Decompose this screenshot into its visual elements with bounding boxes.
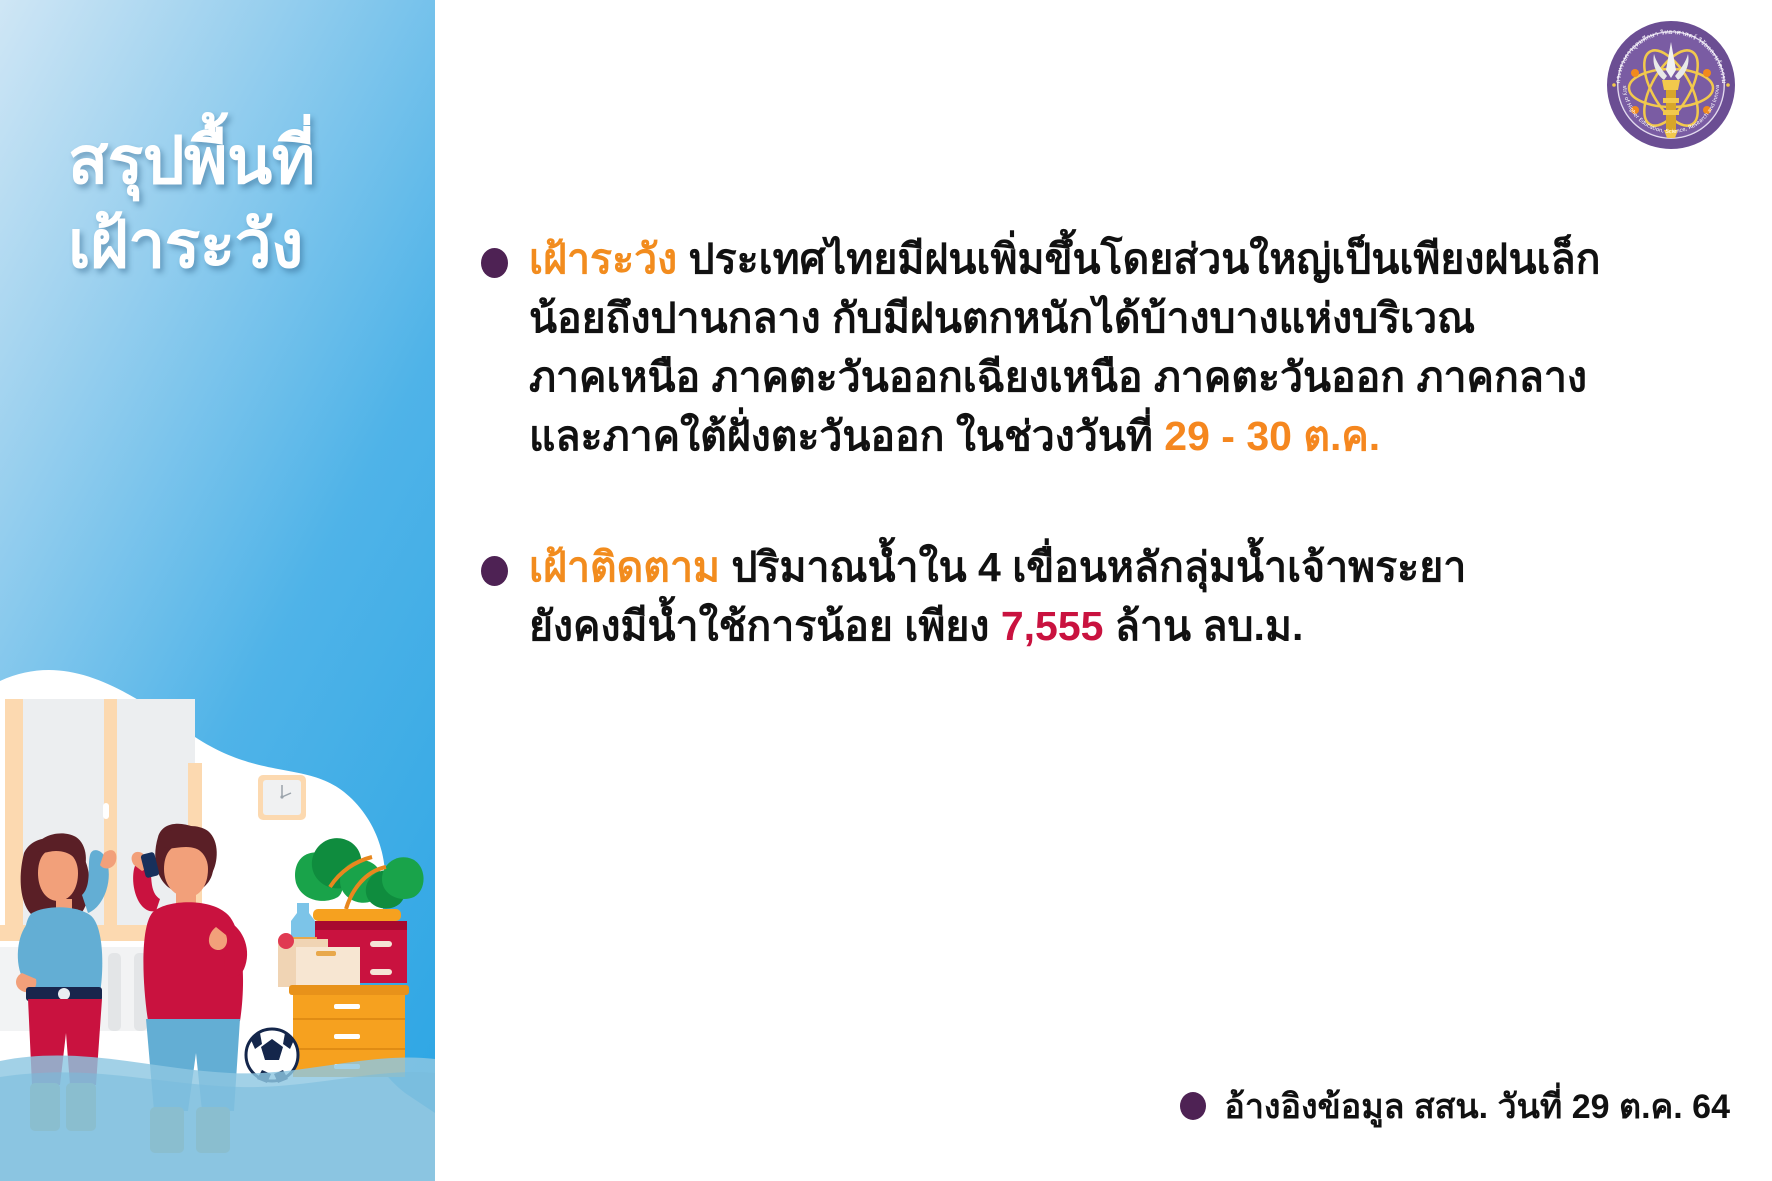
content-area: กระทรวงการอุดมศึกษา วิทยาศาสตร์ วิจัยและ… xyxy=(435,0,1772,1181)
left-panel: สรุปพื้นที่ เฝ้าระวัง xyxy=(0,0,435,1181)
bullet-2-line-1: เฝ้าติดตาม ปริมาณน้ำใน 4 เขื่อนหลักลุ่มน… xyxy=(529,538,1742,597)
bullet-item-watch-out: เฝ้าระวัง ประเทศไทยมีฝนเพิ่มขึ้นโดยส่วนใ… xyxy=(457,230,1742,466)
footer-bullet-dot-icon xyxy=(1180,1092,1206,1120)
bullet-2-keyword: เฝ้าติดตาม xyxy=(529,544,731,590)
bullet-1-line-2: น้อยถึงปานกลาง กับมีฝนตกหนักได้บ้างบางแห… xyxy=(529,289,1742,348)
bullet-dot-icon xyxy=(481,248,508,278)
page-title-line-2: เฝ้าระวัง xyxy=(68,202,418,286)
bullet-1-line-4: และภาคใต้ฝั่งตะวันออก ในช่วงวันที่ 29 - … xyxy=(529,407,1742,466)
date-range-highlight: 29 - 30 ต.ค. xyxy=(1164,413,1380,459)
flood-illustration xyxy=(0,621,435,1181)
bullet-1-line-1: เฝ้าระวัง ประเทศไทยมีฝนเพิ่มขึ้นโดยส่วนใ… xyxy=(529,230,1742,289)
bullet-1-line-3: ภาคเหนือ ภาคตะวันออกเฉียงเหนือ ภาคตะวันอ… xyxy=(529,348,1742,407)
bullet-2-line-1-rest: ปริมาณน้ำใน 4 เขื่อนหลักลุ่มน้ำเจ้าพระยา xyxy=(731,544,1466,590)
page-title: สรุปพื้นที่ เฝ้าระวัง xyxy=(68,118,418,287)
bullet-2-text: เฝ้าติดตาม ปริมาณน้ำใน 4 เขื่อนหลักลุ่มน… xyxy=(529,538,1742,656)
page-title-line-1: สรุปพื้นที่ xyxy=(68,118,418,202)
bullet-1-keyword: เฝ้าระวัง xyxy=(529,236,689,282)
bullet-1-line-1-rest: ประเทศไทยมีฝนเพิ่มขึ้นโดยส่วนใหญ่เป็นเพี… xyxy=(689,236,1601,282)
bullet-list: เฝ้าระวัง ประเทศไทยมีฝนเพิ่มขึ้นโดยส่วนใ… xyxy=(457,230,1742,714)
ministry-logo-icon: กระทรวงการอุดมศึกษา วิทยาศาสตร์ วิจัยและ… xyxy=(1604,18,1738,152)
bullet-1-line-4-a: และภาคใต้ฝั่งตะวันออก ในช่วงวันที่ xyxy=(529,413,1164,459)
source-footer: อ้างอิงข้อมูล สสน. วันที่ 29 ต.ค. 64 xyxy=(1180,1079,1730,1133)
bullet-2-line-2-c: ล้าน ลบ.ม. xyxy=(1103,603,1303,649)
water-volume-highlight: 7,555 xyxy=(1001,603,1104,649)
bullet-2-line-2-a: ยังคงมีน้ำใช้การน้อย เพียง xyxy=(529,603,1001,649)
bullet-item-monitor: เฝ้าติดตาม ปริมาณน้ำใน 4 เขื่อนหลักลุ่มน… xyxy=(457,538,1742,656)
source-reference-text: อ้างอิงข้อมูล สสน. วันที่ 29 ต.ค. 64 xyxy=(1224,1079,1730,1133)
bullet-1-text: เฝ้าระวัง ประเทศไทยมีฝนเพิ่มขึ้นโดยส่วนใ… xyxy=(529,230,1742,466)
bullet-2-line-2: ยังคงมีน้ำใช้การน้อย เพียง 7,555 ล้าน ลบ… xyxy=(529,597,1742,656)
bullet-dot-icon xyxy=(481,556,508,586)
